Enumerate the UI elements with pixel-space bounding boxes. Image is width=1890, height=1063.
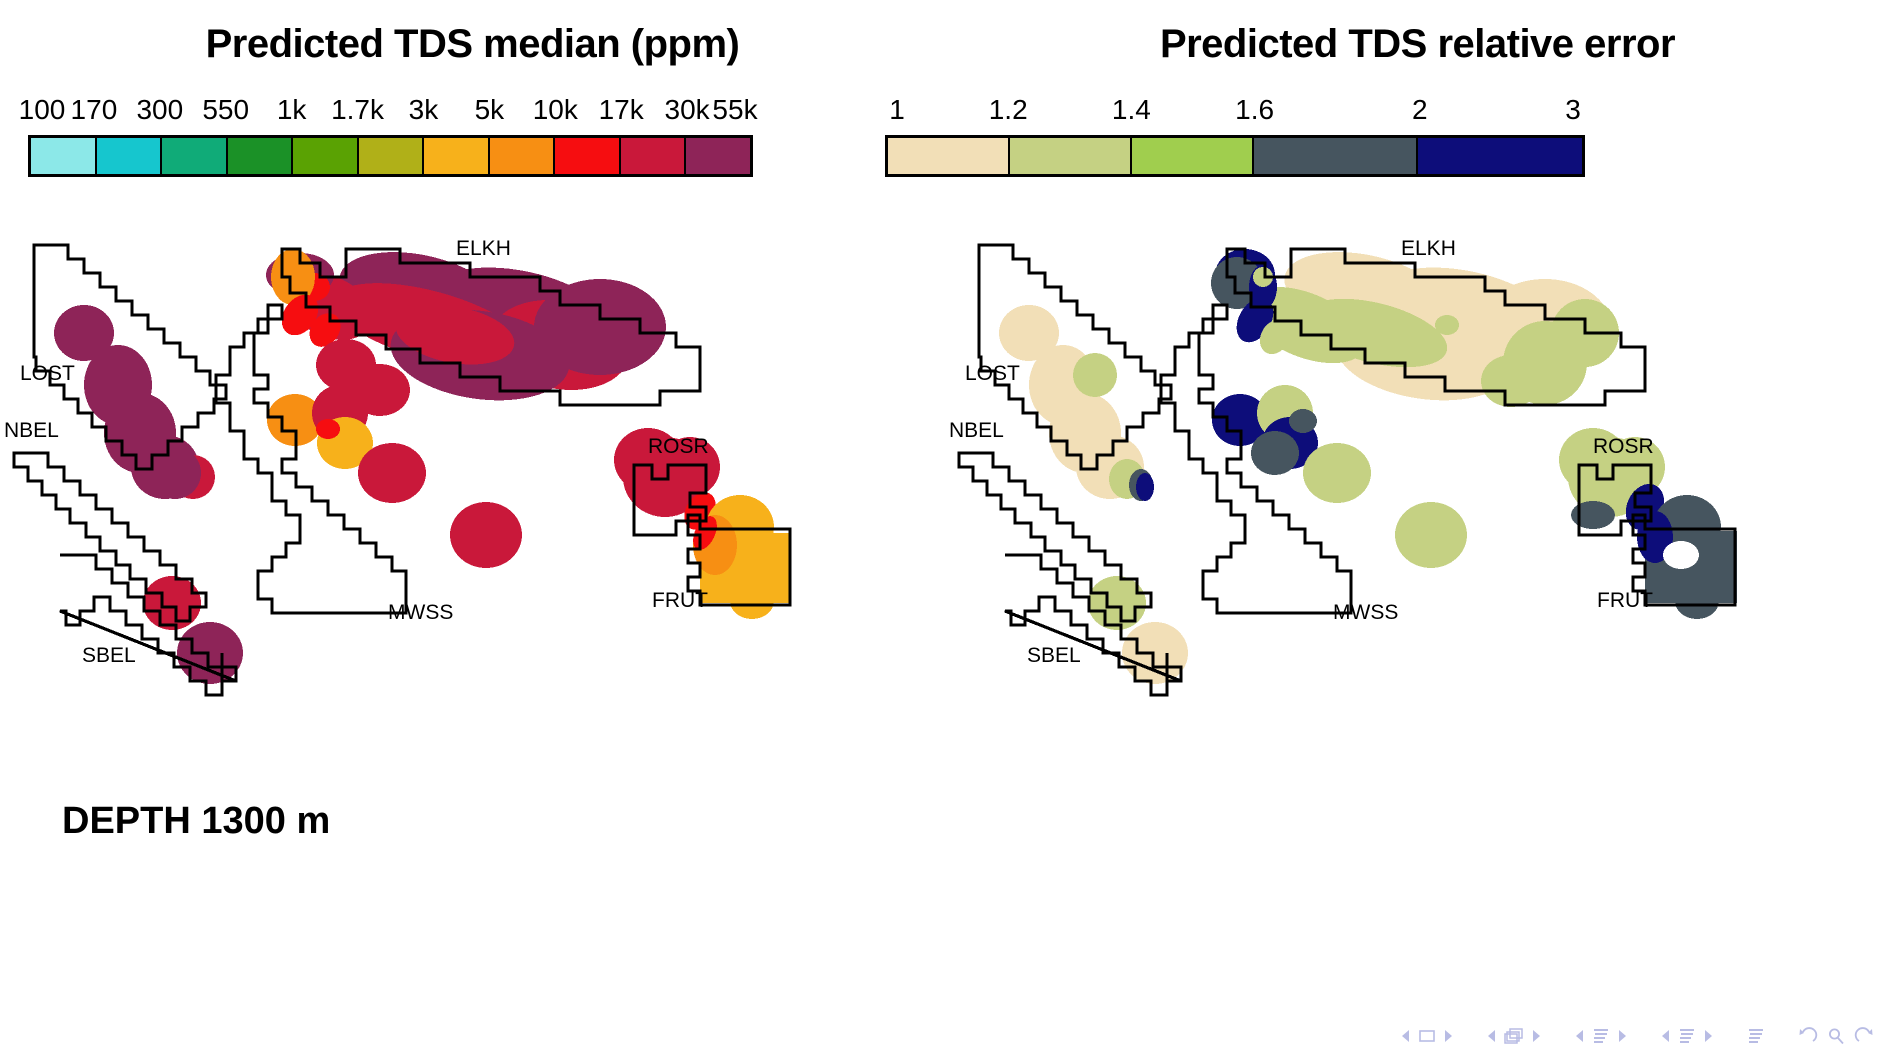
colorbar-median-segment-10 bbox=[686, 138, 750, 174]
field-label-nbel: NBEL bbox=[949, 419, 1004, 442]
prev-section-arrow-icon[interactable] bbox=[1660, 1029, 1671, 1043]
next-subsection-arrow-icon[interactable] bbox=[1617, 1029, 1628, 1043]
next-slide-arrow-icon[interactable] bbox=[1443, 1029, 1454, 1043]
depth-label: DEPTH 1300 m bbox=[62, 800, 330, 843]
colorbar-median-tick-3: 550 bbox=[202, 95, 249, 125]
next-section-arrow-icon[interactable] bbox=[1703, 1029, 1714, 1043]
colorbar-relative-error-tick-3: 1.6 bbox=[1235, 95, 1274, 125]
colorbar-median-tick-10: 30k bbox=[665, 95, 710, 125]
field-label-rosr: ROSR bbox=[1593, 435, 1654, 458]
colorbar-median-bar bbox=[28, 135, 753, 177]
colorbar-median-tick-1: 170 bbox=[71, 95, 118, 125]
page-title-median: Predicted TDS median (ppm) bbox=[0, 22, 945, 67]
field-label-lost: LOST bbox=[20, 362, 75, 385]
prev-slide-arrow-icon[interactable] bbox=[1400, 1029, 1411, 1043]
colorbar-median-segment-5 bbox=[359, 138, 425, 174]
field-label-sbel: SBEL bbox=[1027, 644, 1081, 667]
colorbar-median: 1001703005501k1.7k3k5k10k17k30k55k bbox=[28, 95, 753, 175]
field-label-lost: LOST bbox=[965, 362, 1020, 385]
colorbar-median-tick-5: 1.7k bbox=[331, 95, 384, 125]
field-label-mwss: MWSS bbox=[388, 601, 453, 624]
page-title-relative-error: Predicted TDS relative error bbox=[945, 22, 1890, 67]
nav-group-section[interactable] bbox=[1660, 1027, 1714, 1045]
panel-tds-relative-error: Predicted TDS relative error 11.21.41.62… bbox=[945, 0, 1890, 1063]
colorbar-median-tick-2: 300 bbox=[136, 95, 183, 125]
colorbar-median-tick-11: 55k bbox=[712, 95, 757, 125]
field-label-frut: FRUT bbox=[652, 589, 708, 612]
colorbar-median-segment-8 bbox=[555, 138, 621, 174]
search-icon[interactable] bbox=[1827, 1027, 1845, 1045]
panel-tds-median: Predicted TDS median (ppm) 1001703005501… bbox=[0, 0, 945, 1063]
colorbar-median-segment-0 bbox=[31, 138, 97, 174]
field-label-rosr: ROSR bbox=[648, 435, 709, 458]
nav-group-frame[interactable] bbox=[1486, 1027, 1542, 1045]
section-icon[interactable] bbox=[1677, 1027, 1697, 1045]
colorbar-median-tick-8: 10k bbox=[533, 95, 578, 125]
field-label-elkh: ELKH bbox=[456, 237, 511, 260]
colorbar-relative-error-tick-4: 2 bbox=[1412, 95, 1428, 125]
colorbar-relative-error-ticks: 11.21.41.623 bbox=[885, 95, 1585, 129]
field-label-frut: FRUT bbox=[1597, 589, 1653, 612]
subsection-icon[interactable] bbox=[1591, 1027, 1611, 1045]
map-tds-relative-error: LOST NBEL SBEL ELKH MWSS ROSR FRUT bbox=[945, 215, 1890, 775]
colorbar-relative-error-segment-1 bbox=[1010, 138, 1132, 174]
nav-group-slide[interactable] bbox=[1400, 1028, 1454, 1044]
map-tds-median: LOST NBEL SBEL ELKH MWSS ROSR FRUT bbox=[0, 215, 945, 775]
colorbar-relative-error-segment-4 bbox=[1418, 138, 1582, 174]
colorbar-median-segment-3 bbox=[228, 138, 294, 174]
field-label-elkh: ELKH bbox=[1401, 237, 1456, 260]
colorbar-median-tick-0: 100 bbox=[19, 95, 66, 125]
next-frame-arrow-icon[interactable] bbox=[1531, 1029, 1542, 1043]
prev-subsection-arrow-icon[interactable] bbox=[1574, 1029, 1585, 1043]
colorbar-relative-error: 11.21.41.623 bbox=[885, 95, 1585, 175]
nav-group-subsection[interactable] bbox=[1574, 1027, 1628, 1045]
frames-icon[interactable] bbox=[1503, 1027, 1525, 1045]
back-icon[interactable] bbox=[1798, 1027, 1818, 1045]
colorbar-median-segment-7 bbox=[490, 138, 556, 174]
colorbar-relative-error-segment-2 bbox=[1132, 138, 1254, 174]
colorbar-median-segment-4 bbox=[293, 138, 359, 174]
forward-icon[interactable] bbox=[1854, 1027, 1874, 1045]
colorbar-relative-error-bar bbox=[885, 135, 1585, 177]
beamer-navigation-bar[interactable] bbox=[1400, 1019, 1874, 1053]
colorbar-median-tick-6: 3k bbox=[409, 95, 439, 125]
colorbar-median-segment-9 bbox=[621, 138, 687, 174]
toc-icon[interactable] bbox=[1746, 1027, 1766, 1045]
colorbar-median-segment-2 bbox=[162, 138, 228, 174]
field-label-nbel: NBEL bbox=[4, 419, 59, 442]
field-label-sbel: SBEL bbox=[82, 644, 136, 667]
slide-icon[interactable] bbox=[1417, 1028, 1437, 1044]
colorbar-relative-error-tick-0: 1 bbox=[889, 95, 905, 125]
colorbar-relative-error-tick-5: 3 bbox=[1565, 95, 1581, 125]
colorbar-relative-error-segment-0 bbox=[888, 138, 1010, 174]
colorbar-median-segment-1 bbox=[97, 138, 163, 174]
colorbar-median-tick-9: 17k bbox=[599, 95, 644, 125]
colorbar-median-tick-4: 1k bbox=[277, 95, 307, 125]
colorbar-relative-error-tick-1: 1.2 bbox=[989, 95, 1028, 125]
colorbar-relative-error-tick-2: 1.4 bbox=[1112, 95, 1151, 125]
field-label-mwss: MWSS bbox=[1333, 601, 1398, 624]
prev-frame-arrow-icon[interactable] bbox=[1486, 1029, 1497, 1043]
colorbar-median-segment-6 bbox=[424, 138, 490, 174]
colorbar-median-tick-7: 5k bbox=[475, 95, 505, 125]
colorbar-median-ticks: 1001703005501k1.7k3k5k10k17k30k55k bbox=[28, 95, 753, 129]
colorbar-relative-error-segment-3 bbox=[1254, 138, 1418, 174]
